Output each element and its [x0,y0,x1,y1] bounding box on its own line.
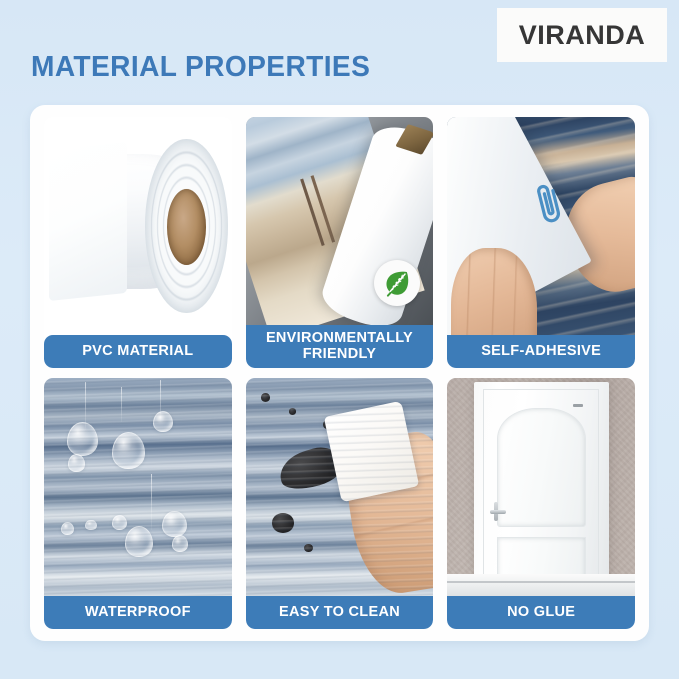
feature-cell-pvc-material[interactable]: PVC MATERIAL [44,117,232,368]
stain-spot [272,513,295,533]
eco-badge [374,260,420,306]
water-streak [151,474,152,531]
water-droplet [172,535,189,552]
green-leaf-icon [382,268,412,298]
pvc-cardboard-core [167,189,206,265]
features-card: PVC MATERIAL [30,105,649,641]
water-droplet [67,422,99,457]
handle-lever [490,510,505,513]
self-adhesive-image [447,117,635,335]
feature-cell-no-glue[interactable]: NO GLUE [447,378,635,629]
cleaning-cloth [324,401,419,503]
environmentally-friendly-image [246,117,434,325]
feature-label-waterproof: WATERPROOF [44,596,232,629]
door-panel-top [497,408,586,527]
baseboard [447,574,635,596]
door-photo [447,378,635,596]
water-streak [121,387,122,422]
no-glue-image [447,378,635,596]
blue-wood-texture [44,378,232,596]
water-droplet [68,454,85,471]
stain-spot [261,393,270,402]
brand-logo: VIRANDA [497,8,667,62]
water-droplet [112,515,127,530]
self-adhesive-photo [447,117,635,335]
water-droplet [125,526,153,556]
stain-smear [276,442,348,495]
feature-label-pvc-material: PVC MATERIAL [44,335,232,368]
door-leaf [483,389,599,596]
water-streak [160,380,161,421]
pvc-material-image [44,117,232,335]
features-grid: PVC MATERIAL [44,117,635,629]
feature-cell-easy-to-clean[interactable]: EASY TO CLEAN [246,378,434,629]
page-title: MATERIAL PROPERTIES [31,51,370,84]
water-droplet [162,511,186,537]
feature-label-no-glue: NO GLUE [447,596,635,629]
easy-to-clean-image [246,378,434,596]
water-droplet [112,432,146,469]
pvc-roll-photo [44,117,232,335]
door-vent [573,404,583,407]
door-frame [474,382,609,595]
feature-label-environmentally-friendly: ENVIRONMENTALLY FRIENDLY [246,325,434,368]
feature-cell-environmentally-friendly[interactable]: ENVIRONMENTALLY FRIENDLY [246,117,434,368]
stain-spot [289,408,297,415]
brand-name: VIRANDA [519,20,646,51]
water-droplet [85,520,96,531]
water-streak [85,382,86,430]
feature-label-self-adhesive: SELF-ADHESIVE [447,335,635,368]
cleaning-hand [339,428,433,596]
eco-roll-photo [246,117,434,325]
feature-cell-self-adhesive[interactable]: SELF-ADHESIVE [447,117,635,368]
stain-spot [323,419,336,430]
blue-wood-texture [246,378,434,596]
water-droplet [61,522,74,535]
waterproof-image [44,378,232,596]
door-handle [489,502,507,520]
water-droplet [153,411,174,433]
stain-spot [304,544,313,553]
feature-label-easy-to-clean: EASY TO CLEAN [246,596,434,629]
feature-cell-waterproof[interactable]: WATERPROOF [44,378,232,629]
